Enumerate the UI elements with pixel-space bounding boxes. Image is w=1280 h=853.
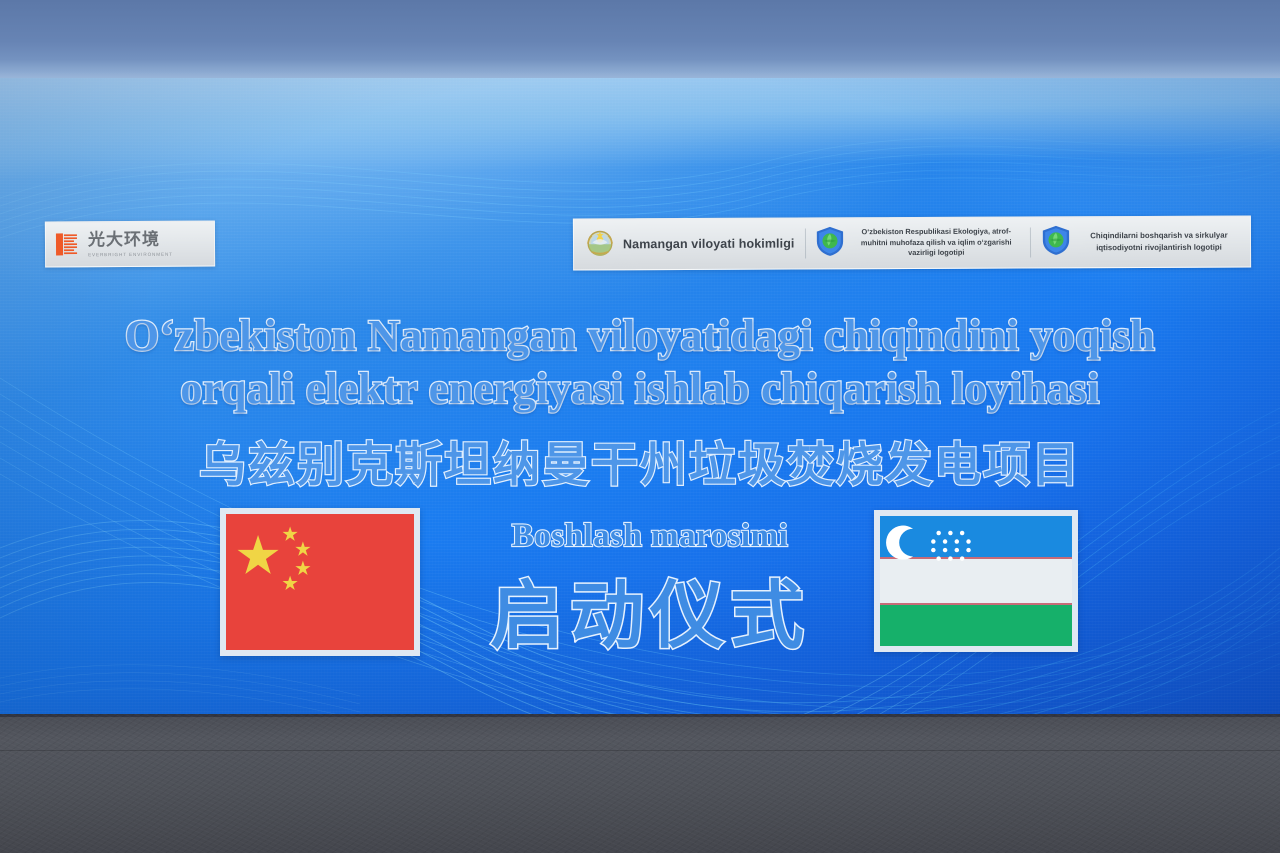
- event-banner: 光大环境 EVERBRIGHT ENVIRONMENT: [0, 78, 1280, 718]
- banner-title-line-1: O‘zbekiston Namangan viloyatidagi chiqin…: [0, 310, 1280, 361]
- ground-seam-line: [0, 750, 1280, 751]
- partner-ecology-ministry: O‘zbekiston Respublikasi Ekologiya, atro…: [805, 217, 1030, 268]
- ground-texture: [0, 714, 1280, 853]
- partner-waste-circular-economy: Chiqindilarni boshqarish va sirkulyar iq…: [1031, 217, 1250, 268]
- banner-title-chinese: 乌兹别克斯坦纳曼干州垃圾焚烧发电项目: [0, 426, 1280, 495]
- blue-shield-green-globe-icon: [1041, 224, 1071, 261]
- banner-title-line-2: orqali elektr energiyasi ishlab chiqaris…: [0, 363, 1280, 414]
- uzbekistan-crescent-and-stars-icon: [880, 516, 1072, 646]
- everbright-english-name: EVERBRIGHT ENVIRONMENT: [88, 251, 173, 257]
- everbright-logo-plaque: 光大环境 EVERBRIGHT ENVIRONMENT: [45, 220, 215, 267]
- partner-logos-plaque: Namangan viloyati hokimligi O‘zbekiston …: [573, 216, 1251, 271]
- ceremony-label-uzbek: Boshlash marosimi: [438, 518, 862, 555]
- china-flag-stars: [226, 514, 414, 650]
- partner-namangan-hokimligi: Namangan viloyati hokimligi: [574, 218, 805, 269]
- uzbekistan-state-emblem-icon: [584, 226, 616, 263]
- ceremony-backdrop-photo: 光大环境 EVERBRIGHT ENVIRONMENT: [0, 0, 1280, 853]
- partner-label: Chiqindilarni boshqarish va sirkulyar iq…: [1078, 230, 1240, 254]
- partner-label: Namangan viloyati hokimligi: [623, 237, 795, 252]
- asphalt-ground: [0, 714, 1280, 853]
- everbright-chinese-name: 光大环境: [88, 231, 173, 249]
- partner-label: O‘zbekiston Respublikasi Ekologiya, atro…: [852, 226, 1020, 259]
- ceremony-label-chinese: 启动仪式: [438, 556, 862, 663]
- everbright-e-mark: [54, 231, 80, 257]
- flag-uzbekistan: [874, 510, 1078, 652]
- flag-china: [220, 508, 420, 656]
- blue-shield-green-globe-icon: [815, 225, 845, 262]
